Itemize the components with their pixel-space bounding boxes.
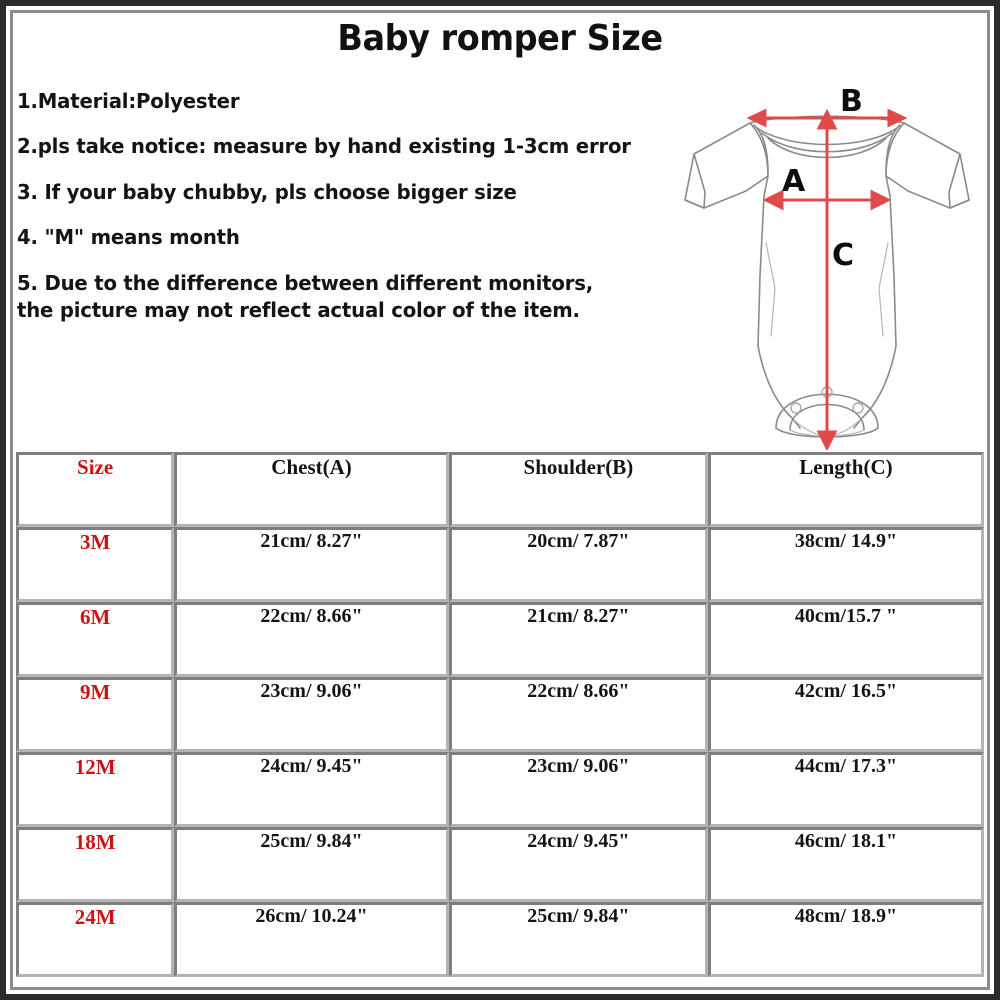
- cell-shoulder: 20cm/ 7.87": [449, 527, 708, 602]
- cell-length: 48cm/ 18.9": [708, 902, 984, 977]
- header-cell-size: Size: [16, 452, 174, 527]
- dimension-label-shoulder: B: [840, 87, 863, 117]
- table-row: 9M 23cm/ 9.06" 22cm/ 8.66" 42cm/ 16.5": [16, 677, 984, 752]
- header-cell-length: Length(C): [708, 452, 984, 527]
- cell-length: 46cm/ 18.1": [708, 827, 984, 902]
- cell-shoulder: 25cm/ 9.84": [449, 902, 708, 977]
- table-row: 3M 21cm/ 8.27" 20cm/ 7.87" 38cm/ 14.9": [16, 527, 984, 602]
- table-row: 24M 26cm/ 10.24" 25cm/ 9.84" 48cm/ 18.9": [16, 902, 984, 977]
- table-header-row: Size Chest(A) Shoulder(B) Length(C): [16, 452, 984, 527]
- size-chart-page: Baby romper Size 1.Material:Polyester 2.…: [0, 0, 1000, 1000]
- table-row: 12M 24cm/ 9.45" 23cm/ 9.06" 44cm/ 17.3": [16, 752, 984, 827]
- header-cell-chest: Chest(A): [174, 452, 449, 527]
- cell-chest: 25cm/ 9.84": [174, 827, 449, 902]
- note-item-3: 3. If your baby chubby, pls choose bigge…: [17, 179, 631, 206]
- note-item-2: 2.pls take notice: measure by hand exist…: [17, 133, 631, 160]
- cell-shoulder: 24cm/ 9.45": [449, 827, 708, 902]
- cell-size: 12M: [16, 752, 174, 827]
- cell-length: 44cm/ 17.3": [708, 752, 984, 827]
- page-title: Baby romper Size: [35, 18, 965, 59]
- cell-size: 3M: [16, 527, 174, 602]
- size-table: Size Chest(A) Shoulder(B) Length(C) 3M 2…: [16, 452, 984, 977]
- dimension-label-chest: A: [782, 167, 805, 197]
- romper-diagram: B A C: [672, 78, 982, 450]
- cell-chest: 22cm/ 8.66": [174, 602, 449, 677]
- note-item-4: 4. "M" means month: [17, 224, 631, 251]
- cell-chest: 24cm/ 9.45": [174, 752, 449, 827]
- table-row: 6M 22cm/ 8.66" 21cm/ 8.27" 40cm/15.7 ": [16, 602, 984, 677]
- romper-illustration-svg: [672, 78, 982, 450]
- table-row: 18M 25cm/ 9.84" 24cm/ 9.45" 46cm/ 18.1": [16, 827, 984, 902]
- cell-chest: 26cm/ 10.24": [174, 902, 449, 977]
- cell-chest: 21cm/ 8.27": [174, 527, 449, 602]
- cell-size: 24M: [16, 902, 174, 977]
- cell-shoulder: 22cm/ 8.66": [449, 677, 708, 752]
- cell-shoulder: 21cm/ 8.27": [449, 602, 708, 677]
- header-cell-shoulder: Shoulder(B): [449, 452, 708, 527]
- cell-length: 40cm/15.7 ": [708, 602, 984, 677]
- cell-length: 38cm/ 14.9": [708, 527, 984, 602]
- cell-size: 6M: [16, 602, 174, 677]
- cell-size: 18M: [16, 827, 174, 902]
- cell-chest: 23cm/ 9.06": [174, 677, 449, 752]
- dimension-label-length: C: [832, 241, 854, 271]
- cell-shoulder: 23cm/ 9.06": [449, 752, 708, 827]
- cell-size: 9M: [16, 677, 174, 752]
- note-item-1: 1.Material:Polyester: [17, 88, 631, 115]
- note-item-5: 5. Due to the difference between differe…: [17, 270, 631, 325]
- notes-list: 1.Material:Polyester 2.pls take notice: …: [17, 88, 657, 325]
- cell-length: 42cm/ 16.5": [708, 677, 984, 752]
